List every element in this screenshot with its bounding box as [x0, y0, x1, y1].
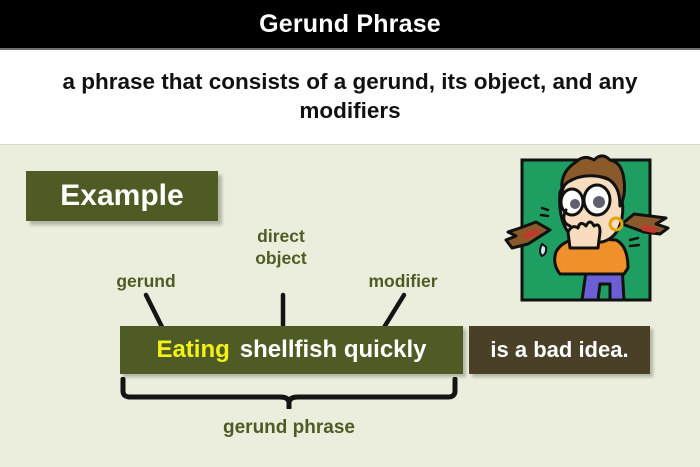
gerund-phrase-brace	[118, 377, 460, 409]
gerund-phrase-caption: gerund phrase	[118, 417, 460, 439]
page-title: Gerund Phrase	[259, 10, 441, 39]
predicate-text: is a bad idea.	[490, 337, 628, 363]
predicate-box: is a bad idea.	[469, 326, 650, 374]
infographic-page: Gerund Phrase a phrase that consists of …	[0, 0, 700, 467]
sick-girl-cartoon-icon	[498, 148, 676, 303]
gerund-phrase-box: Eating shellfish quickly	[120, 326, 463, 374]
title-bar: Gerund Phrase	[0, 0, 700, 48]
example-panel: Example gerund direct object modifier Ea…	[0, 144, 700, 467]
definition-text: a phrase that consists of a gerund, its …	[30, 68, 670, 126]
definition-band: a phrase that consists of a gerund, its …	[0, 50, 700, 144]
gerund-word: Eating	[156, 336, 229, 364]
object-and-modifier: shellfish quickly	[240, 336, 427, 364]
